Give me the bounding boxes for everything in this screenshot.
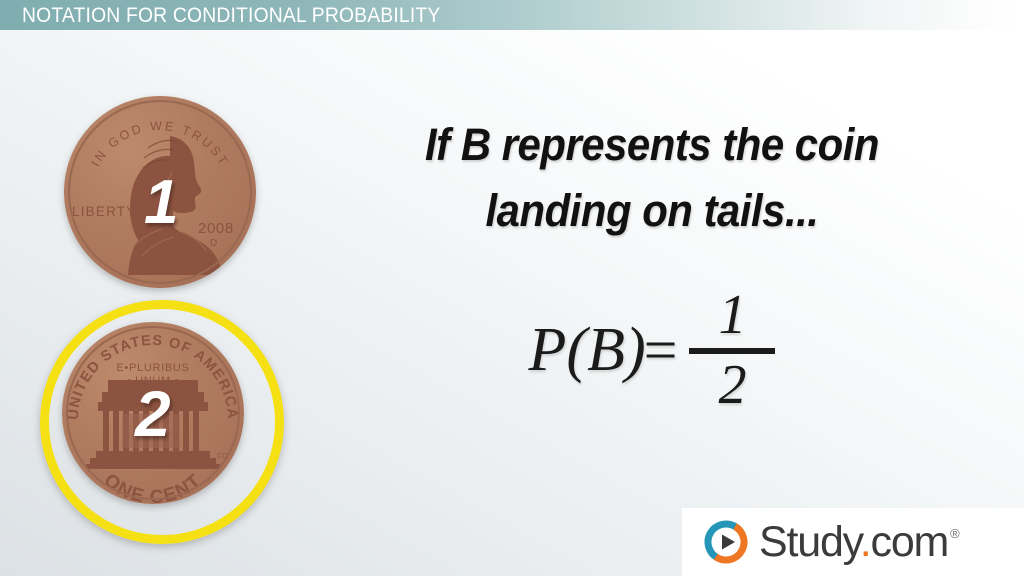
logo-wordmark: Study.com <box>759 521 948 564</box>
logo-brand-part1: Study <box>759 518 860 566</box>
slide-canvas: NOTATION FOR CONDITIONAL PROBABILITY <box>0 0 1024 576</box>
equation-numerator: 1 <box>718 286 746 344</box>
play-circle-icon <box>704 520 748 564</box>
equation: P(B) = 1 2 <box>352 286 952 414</box>
coin-heads-number: 1 <box>144 172 178 234</box>
equation-operator: = <box>644 320 678 380</box>
equation-fraction: 1 2 <box>689 286 775 414</box>
study-com-logo[interactable]: Study.com ® <box>682 508 1024 576</box>
coin-tails-designer-initials: FG <box>217 452 228 461</box>
coin-tails-motto-line1: E•PLURIBUS <box>40 362 266 374</box>
page-title: NOTATION FOR CONDITIONAL PROBABILITY <box>22 1 440 30</box>
coin-heads-mintmark-text: D <box>210 238 217 249</box>
coin-heads-liberty-text: LIBERTY <box>72 204 136 219</box>
registered-mark: ® <box>950 526 960 541</box>
coin-tails-number: 2 <box>135 382 171 446</box>
coin-heads-year-text: 2008 <box>198 220 234 237</box>
equation-denominator: 2 <box>718 356 746 414</box>
coin-heads[interactable]: IN GOD WE TRUST LIBERTY 2008 D 1 <box>64 96 256 288</box>
headline: If B represents the coin landing on tail… <box>373 112 931 243</box>
logo-brand-part2: com <box>871 518 949 566</box>
equation-lhs: P(B) <box>529 319 646 381</box>
headline-line-2: landing on tails... <box>373 178 931 244</box>
headline-line-1: If B represents the coin <box>373 112 931 178</box>
logo-dot: . <box>860 518 871 566</box>
logo-inner: Study.com ® <box>704 520 960 564</box>
coin-tails[interactable]: UNITED STATES OF AMERICA ONE CENT E•PLUR… <box>40 300 284 544</box>
